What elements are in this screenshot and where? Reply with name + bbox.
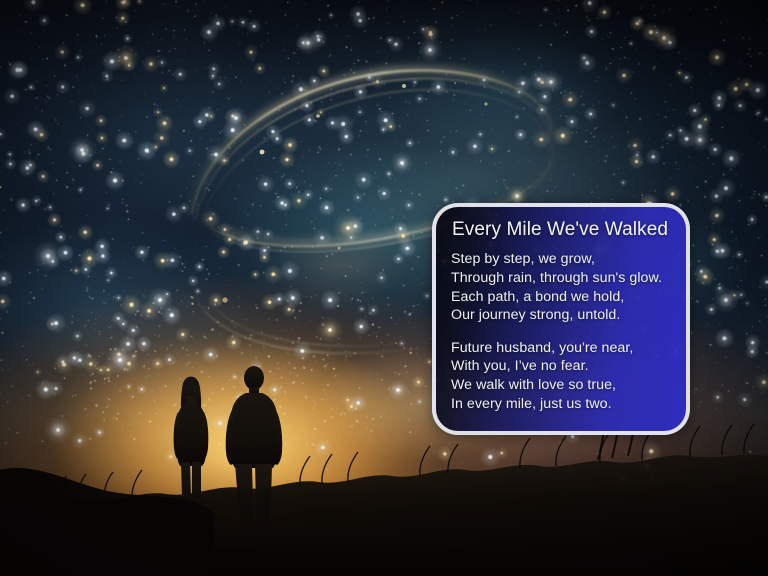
poem-line: Through rain, through sun's glow. (451, 269, 672, 288)
poem-title: Every Mile We've Walked (452, 219, 672, 241)
poem-body: Step by step, we grow, Through rain, thr… (451, 250, 672, 413)
poem-line: Future husband, you're near, (451, 339, 672, 358)
poem-card: Every Mile We've Walked Step by step, we… (432, 203, 690, 435)
poem-line: Each path, a bond we hold, (451, 288, 672, 307)
poem-line: With you, I’ve no fear. (451, 357, 672, 376)
poem-stanza-2: Future husband, you're near, With you, I… (451, 339, 672, 413)
poem-line: Step by step, we grow, (451, 250, 672, 269)
poem-line: Our journey strong, untold. (451, 306, 672, 325)
poem-stanza-1: Step by step, we grow, Through rain, thr… (451, 250, 672, 324)
poem-image-scene: Every Mile We've Walked Step by step, we… (0, 0, 768, 576)
poem-line: In every mile, just us two. (451, 395, 672, 414)
poem-line: We walk with love so true, (451, 376, 672, 395)
